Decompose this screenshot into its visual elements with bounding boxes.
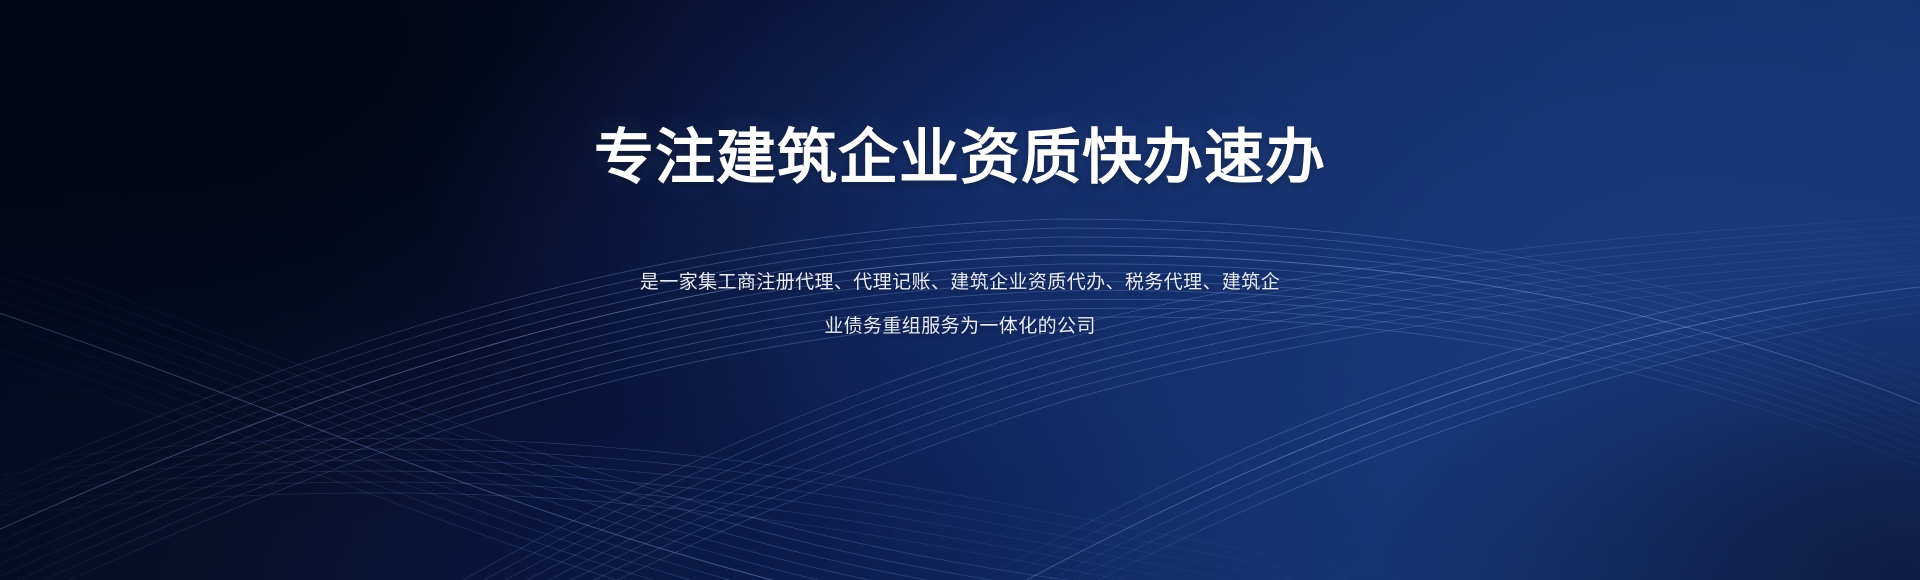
hero-banner: 专注建筑企业资质快办速办 是一家集工商注册代理、代理记账、建筑企业资质代办、税务… <box>0 0 1920 580</box>
subtitle-line-2: 业债务重组服务为一体化的公司 <box>600 305 1320 348</box>
banner-subtitle: 是一家集工商注册代理、代理记账、建筑企业资质代办、税务代理、建筑企 业债务重组服… <box>600 261 1320 348</box>
page-title: 专注建筑企业资质快办速办 <box>594 124 1326 191</box>
subtitle-line-1: 是一家集工商注册代理、代理记账、建筑企业资质代办、税务代理、建筑企 <box>600 261 1320 304</box>
banner-content: 专注建筑企业资质快办速办 是一家集工商注册代理、代理记账、建筑企业资质代办、税务… <box>0 0 1920 580</box>
